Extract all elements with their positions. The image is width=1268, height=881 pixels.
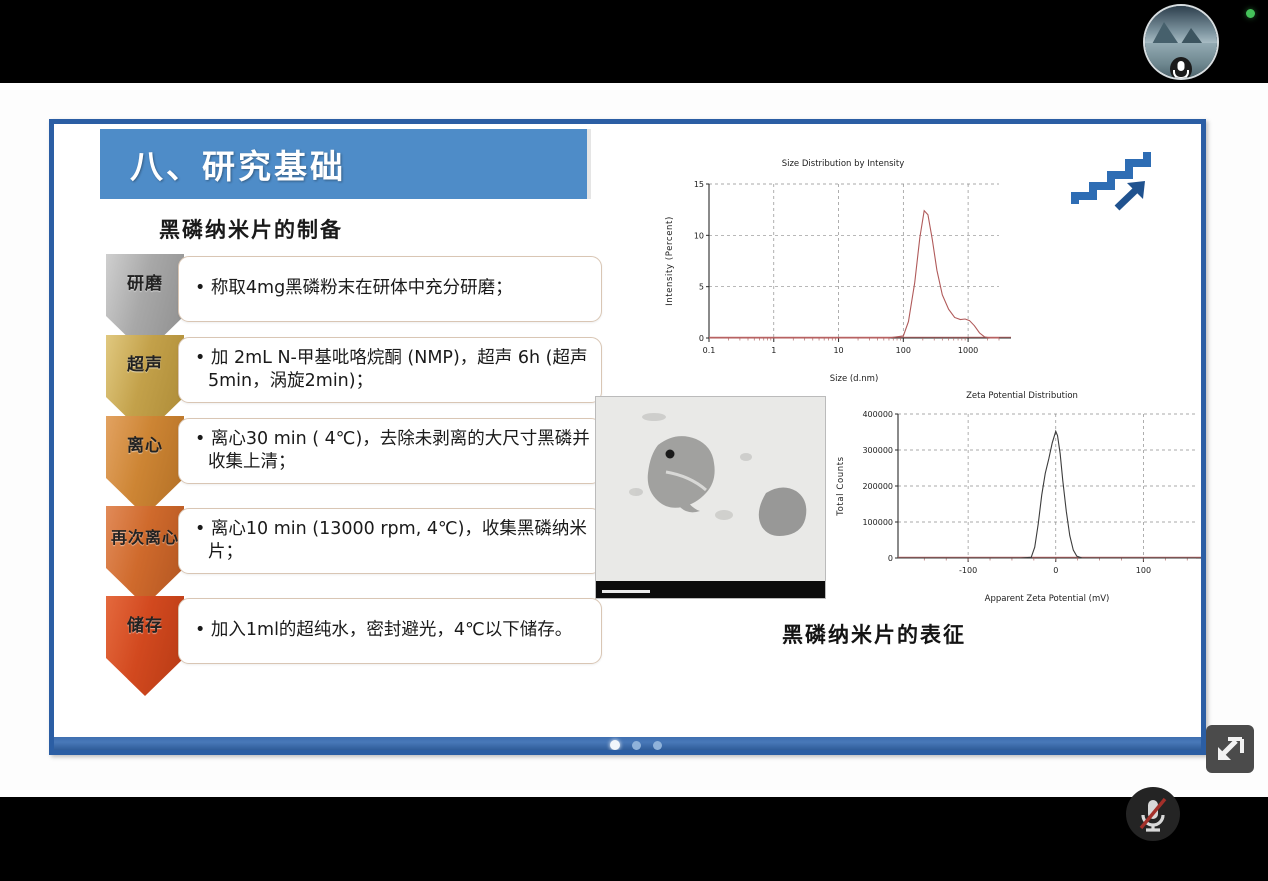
self-view-avatar[interactable]	[1145, 6, 1217, 78]
svg-text:0.1: 0.1	[703, 346, 716, 355]
svg-text:100000: 100000	[862, 518, 893, 527]
step-chevron-3: 再次离心	[106, 506, 184, 606]
step-bubble: 离心10 min (13000 rpm, 4℃)，收集黑磷纳米片；	[178, 508, 602, 574]
svg-text:1: 1	[771, 346, 776, 355]
slide-subtitle: 黑磷纳米片的制备	[159, 214, 343, 244]
svg-text:400000: 400000	[862, 410, 893, 419]
svg-text:Size (d.nm): Size (d.nm)	[830, 374, 879, 384]
step-tag: 离心	[127, 438, 163, 455]
process-step: 离心 离心30 min ( 4℃)，去除未剥离的大尺寸黑磷并收集上清；	[106, 416, 616, 506]
microphone-muted-icon	[1126, 787, 1180, 841]
step-tag: 储存	[127, 618, 163, 635]
svg-text:100: 100	[1136, 566, 1151, 575]
step-bubble: 加 2mL N-甲基吡咯烷酮 (NMP)，超声 6h (超声5min，涡旋2mi…	[178, 337, 602, 403]
process-step: 储存 加入1ml的超纯水，密封避光，4℃以下储存。	[106, 596, 616, 677]
step-chevron-2: 离心	[106, 416, 184, 516]
process-step: 超声 加 2mL N-甲基吡咯烷酮 (NMP)，超声 6h (超声5min，涡旋…	[106, 335, 616, 416]
svg-text:Apparent Zeta Potential (mV): Apparent Zeta Potential (mV)	[985, 594, 1110, 604]
step-bubble: 称取4mg黑磷粉末在研体中充分研磨；	[178, 256, 602, 322]
meeting-topbar	[0, 0, 1268, 83]
tem-content	[596, 397, 826, 599]
svg-text:1000: 1000	[958, 346, 978, 355]
stairs-growth-icon	[1071, 152, 1159, 214]
process-steps-list: 研磨 称取4mg黑磷粉末在研体中充分研磨； 超声 加 2mL N-甲基吡咯烷酮 …	[106, 254, 616, 677]
step-text: 离心30 min ( 4℃)，去除未剥离的大尺寸黑磷并收集上清；	[195, 428, 591, 474]
slide-dot-3	[653, 741, 662, 750]
step-bubble: 加入1ml的超纯水，密封避光，4℃以下储存。	[178, 598, 602, 664]
process-step: 研磨 称取4mg黑磷粉末在研体中充分研磨；	[106, 254, 616, 335]
step-text: 加入1ml的超纯水，密封避光，4℃以下储存。	[195, 619, 572, 642]
microphone-mute-button[interactable]	[1126, 787, 1180, 841]
svg-text:-100: -100	[959, 566, 977, 575]
meeting-screen-share-window: 田星的屏幕共享 八、研究基础 黑磷纳米片的制备	[0, 0, 1268, 881]
svg-text:100: 100	[896, 346, 911, 355]
svg-text:10: 10	[833, 346, 843, 355]
step-text: 称取4mg黑磷粉末在研体中充分研磨；	[195, 277, 513, 300]
microphone-icon	[1170, 57, 1192, 78]
svg-text:Intensity (Percent): Intensity (Percent)	[665, 216, 675, 306]
svg-text:5: 5	[699, 283, 704, 292]
svg-text:200000: 200000	[862, 482, 893, 491]
step-bubble: 离心30 min ( 4℃)，去除未剥离的大尺寸黑磷并收集上清；	[178, 418, 602, 484]
presentation-slide: 八、研究基础 黑磷纳米片的制备 研磨	[54, 124, 1201, 750]
svg-text:Size Distribution by Intensity: Size Distribution by Intensity	[782, 159, 905, 169]
svg-text:15: 15	[694, 180, 704, 189]
process-step: 再次离心 离心10 min (13000 rpm, 4℃)，收集黑磷纳米片；	[106, 506, 616, 596]
step-tag: 研磨	[127, 276, 163, 293]
size-distribution-chart: Size Distribution by Intensity0510150.11…	[661, 154, 1025, 384]
slide-progress-dots	[610, 740, 662, 750]
step-tag: 超声	[127, 357, 163, 374]
svg-text:0: 0	[699, 334, 704, 343]
page-title: 八、研究基础	[130, 140, 346, 188]
svg-text:Zeta Potential Distribution: Zeta Potential Distribution	[966, 391, 1078, 401]
slide-dot-2	[632, 741, 641, 750]
svg-text:300000: 300000	[862, 446, 893, 455]
shared-screen-area: 八、研究基础 黑磷纳米片的制备 研磨	[0, 83, 1268, 797]
tem-micrograph	[595, 396, 826, 599]
zeta-potential-chart: Zeta Potential Distribution0100000200000…	[832, 386, 1201, 604]
step-chevron-4: 储存	[106, 596, 184, 696]
svg-text:0: 0	[1053, 566, 1058, 575]
slide-dot-1	[610, 740, 620, 750]
svg-text:0: 0	[888, 554, 893, 563]
avatar-mountain-left	[1151, 22, 1180, 46]
svg-text:Total Counts: Total Counts	[836, 456, 846, 516]
step-tag: 再次离心	[111, 528, 179, 547]
figure-caption: 黑磷纳米片的表征	[714, 619, 1034, 649]
svg-text:10: 10	[694, 231, 704, 240]
connection-status-dot	[1246, 9, 1255, 18]
step-text: 离心10 min (13000 rpm, 4℃)，收集黑磷纳米片；	[195, 518, 591, 564]
step-text: 加 2mL N-甲基吡咯烷酮 (NMP)，超声 6h (超声5min，涡旋2mi…	[195, 347, 591, 393]
tem-scalebar	[596, 581, 825, 598]
expand-icon	[1206, 725, 1254, 773]
expand-screen-button[interactable]	[1206, 725, 1254, 773]
slide-frame: 八、研究基础 黑磷纳米片的制备 研磨	[49, 119, 1206, 755]
